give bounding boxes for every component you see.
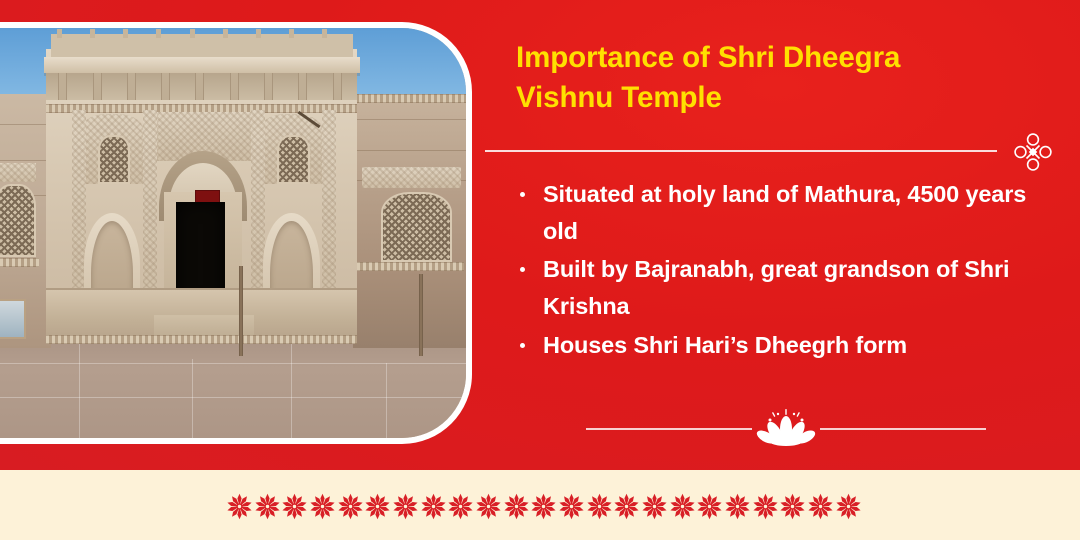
temple-photo-frame — [0, 22, 472, 444]
floral-motif-icon — [586, 493, 613, 520]
floral-motif-icon — [392, 493, 419, 520]
floral-motif-icon — [281, 493, 308, 520]
floral-motif-icon — [641, 493, 668, 520]
title-divider — [485, 143, 1060, 159]
photo-upper-jali-left — [98, 135, 130, 184]
floral-motif-icon — [613, 493, 640, 520]
photo-chhajja-soffit — [46, 73, 358, 100]
floral-motif-icon — [420, 493, 447, 520]
photo-right-jali-window — [381, 192, 452, 262]
photo-right-canopy — [362, 167, 461, 188]
floral-motif-icon — [503, 493, 530, 520]
photo-right-frieze — [353, 94, 466, 103]
photo-left-canopy — [0, 163, 36, 181]
lotus-rule-left — [586, 428, 752, 430]
floral-motif-icon — [475, 493, 502, 520]
floral-motif-icon — [835, 493, 862, 520]
photo-chhajja-eave — [44, 57, 360, 73]
lotus-rule-right — [820, 428, 986, 430]
floral-motif-icon — [226, 493, 253, 520]
floral-motif-icon — [669, 493, 696, 520]
lotus-flower-icon — [748, 407, 824, 454]
photo-left-jali-window — [0, 184, 36, 258]
list-item: Houses Shri Hari’s Dheegrh form — [514, 327, 1054, 364]
floral-motif-icon — [364, 493, 391, 520]
floral-motif-icon — [807, 493, 834, 520]
page-title: Importance of Shri Dheegra Vishnu Temple — [516, 38, 1036, 119]
photo-plinth-frieze — [46, 335, 358, 344]
photo-signboard — [0, 299, 26, 340]
photo-upper-jali-right — [277, 135, 309, 184]
photo-door-sign — [195, 190, 221, 203]
floral-border — [226, 486, 862, 526]
floral-motif-icon — [696, 493, 723, 520]
list-item: Situated at holy land of Mathura, 4500 y… — [514, 176, 1054, 249]
slide-root: Importance of Shri Dheegra Vishnu Temple… — [0, 0, 1080, 540]
floral-motif-icon — [447, 493, 474, 520]
list-item: Built by Bajranabh, great grandson of Sh… — [514, 251, 1054, 324]
content-column: Importance of Shri Dheegra Vishnu Temple — [516, 38, 1036, 119]
temple-photo — [0, 28, 466, 438]
endless-knot-ornament-icon — [1012, 131, 1054, 178]
floral-motif-icon — [779, 493, 806, 520]
divider-rule — [485, 150, 997, 152]
floral-motif-icon — [558, 493, 585, 520]
floral-motif-icon — [530, 493, 557, 520]
bullet-list: Situated at holy land of Mathura, 4500 y… — [514, 176, 1054, 365]
photo-center-drainpipe — [239, 266, 243, 356]
lotus-divider — [586, 407, 986, 447]
photo-pilaster-4 — [322, 110, 336, 290]
photo-right-drainpipe — [419, 274, 423, 356]
floral-motif-icon — [337, 493, 364, 520]
photo-left-ledge — [0, 258, 39, 267]
photo-parapet — [51, 34, 353, 57]
floral-motif-icon — [309, 493, 336, 520]
floral-motif-icon — [724, 493, 751, 520]
floral-motif-icon — [752, 493, 779, 520]
floral-motif-icon — [254, 493, 281, 520]
photo-pilaster-2 — [143, 110, 157, 290]
photo-right-ledge — [357, 262, 463, 271]
